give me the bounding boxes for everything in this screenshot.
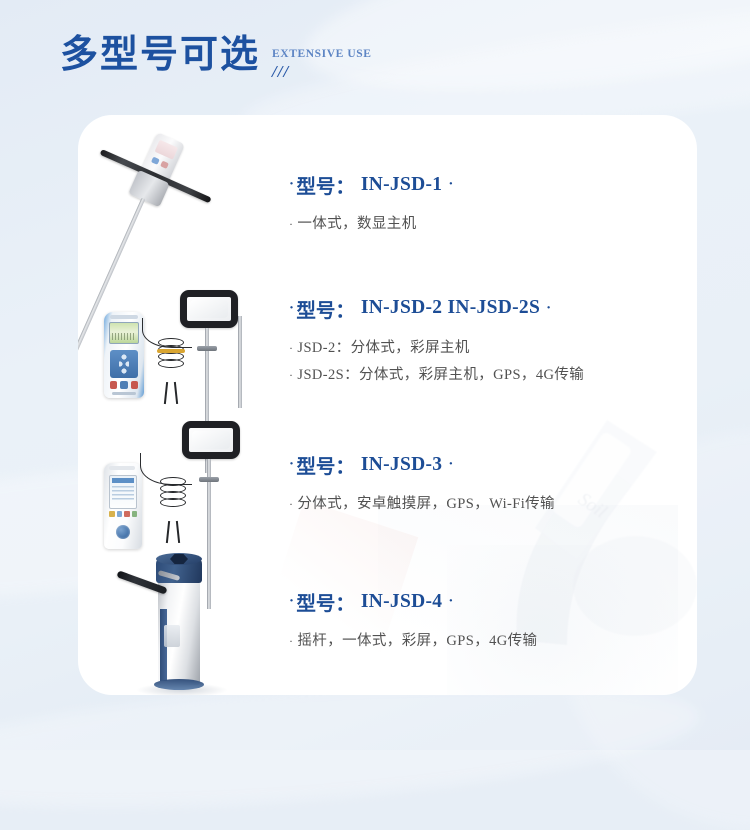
product-feature-line: ·摇杆，一体式，彩屏，GPS，4G传输 [289, 630, 697, 652]
bullet-dot-icon: · [289, 457, 294, 472]
product-feature-text: JSD-2：分体式，彩屏主机 [297, 340, 469, 356]
coiled-cable-icon [160, 477, 186, 523]
product-feature-line: ·JSD-2S：分体式，彩屏主机，GPS，4G传输 [289, 364, 697, 386]
handheld-meter-icon [104, 463, 142, 549]
product-model-line: · 型号： IN-JSD-2 IN-JSD-2S · [289, 294, 697, 323]
product-model-line: · 型号： IN-JSD-1 · [289, 170, 697, 199]
product-feature-line: ·JSD-2：分体式，彩屏主机 [289, 337, 697, 359]
bullet-dot-icon: · [546, 301, 551, 316]
page-subtitle-group: EXTENSIVE USE /// [272, 36, 372, 82]
bullet-dot-icon: · [289, 497, 293, 511]
product-model-label: 型号： [296, 294, 355, 323]
spare-rod-icon [238, 316, 242, 408]
page-header: 多型号可选 EXTENSIVE USE /// [60, 36, 372, 82]
product-image-android-touchscreen-handheld-meter-with-probe [78, 413, 273, 553]
product-feature-line: ·一体式，数显主机 [289, 213, 697, 235]
product-model-value: IN-JSD-2 IN-JSD-2S [361, 297, 540, 319]
product-model-line: · 型号： IN-JSD-3 · [289, 450, 697, 479]
bullet-dot-icon: · [448, 594, 453, 609]
bullet-dot-icon: · [289, 177, 294, 192]
product-feature-text: 一体式，数显主机 [297, 216, 416, 232]
product-model-label: 型号： [296, 170, 355, 199]
product-feature-text: 分体式，安卓触摸屏，GPS，Wi-Fi传输 [297, 496, 555, 512]
product-feature-text: JSD-2S：分体式，彩屏主机，GPS，4G传输 [297, 367, 584, 383]
slash-decoration-icon: /// [272, 62, 372, 82]
product-image-color-screen-handheld-meter-with-probe [78, 270, 273, 410]
page-subtitle-en: EXTENSIVE USE [272, 48, 372, 60]
product-info: · 型号： IN-JSD-4 · ·摇杆，一体式，彩屏，GPS，4G传输 [273, 587, 697, 652]
product-list-card: Soil [78, 115, 697, 695]
product-model-value: IN-JSD-3 [361, 454, 443, 476]
product-model-value: IN-JSD-4 [361, 591, 443, 613]
product-row[interactable]: · 型号： IN-JSD-1 · ·一体式，数显主机 [78, 133, 697, 273]
bullet-dot-icon: · [289, 217, 293, 231]
page-title: 多型号可选 [60, 36, 260, 74]
product-info: · 型号： IN-JSD-1 · ·一体式，数显主机 [273, 170, 697, 235]
power-button-icon [116, 525, 130, 539]
bullet-dot-icon: · [289, 301, 294, 316]
handheld-meter-icon [104, 312, 144, 398]
product-info: · 型号： IN-JSD-2 IN-JSD-2S · ·JSD-2：分体式，彩屏… [273, 294, 697, 387]
bullet-dot-icon: · [448, 177, 453, 192]
product-feature-line: ·分体式，安卓触摸屏，GPS，Wi-Fi传输 [289, 493, 697, 515]
product-row[interactable]: · 型号： IN-JSD-2 IN-JSD-2S · ·JSD-2：分体式，彩屏… [78, 270, 697, 410]
product-image-integrated-digital-probe [78, 133, 273, 273]
product-model-label: 型号： [296, 587, 355, 616]
product-info: · 型号： IN-JSD-3 · ·分体式，安卓触摸屏，GPS，Wi-Fi传输 [273, 450, 697, 515]
product-model-label: 型号： [296, 450, 355, 479]
product-feature-text: 摇杆，一体式，彩屏，GPS，4G传输 [297, 633, 537, 649]
product-rows: · 型号： IN-JSD-1 · ·一体式，数显主机 [78, 115, 697, 695]
bullet-dot-icon: · [289, 634, 293, 648]
product-image-crank-handle-integrated-unit [78, 545, 273, 695]
coiled-cable-icon [158, 338, 184, 384]
product-model-line: · 型号： IN-JSD-4 · [289, 587, 697, 616]
product-row[interactable]: · 型号： IN-JSD-3 · ·分体式，安卓触摸屏，GPS，Wi-Fi传输 [78, 413, 697, 553]
bullet-dot-icon: · [448, 457, 453, 472]
product-model-value: IN-JSD-1 [361, 174, 443, 196]
product-row[interactable]: · 型号： IN-JSD-4 · ·摇杆，一体式，彩屏，GPS，4G传输 [78, 545, 697, 695]
bullet-dot-icon: · [289, 341, 293, 355]
bullet-dot-icon: · [289, 594, 294, 609]
bullet-dot-icon: · [289, 368, 293, 382]
